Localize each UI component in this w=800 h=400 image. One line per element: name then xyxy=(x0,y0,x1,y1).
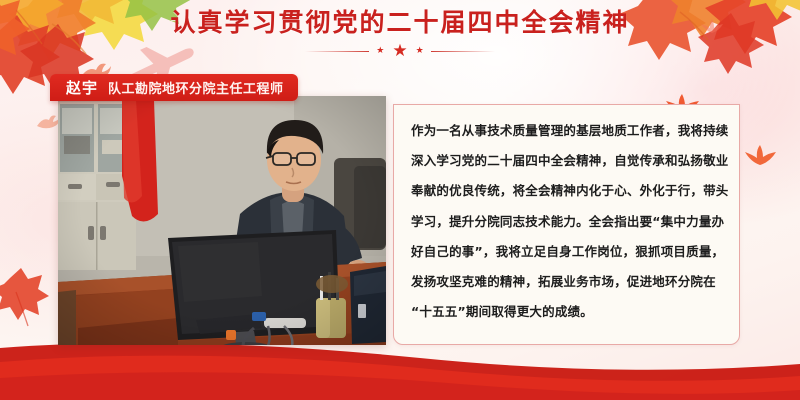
page-title: 认真学习贯彻党的二十届四中全会精神 xyxy=(0,8,800,38)
star-small-left-icon: ★ xyxy=(376,47,384,56)
poster-title-block: 认真学习贯彻党的二十届四中全会精神 ★ ★ ★ xyxy=(0,8,800,60)
quote-line: 作为一名从事技术质量管理的基层地质工作者，我将持续 xyxy=(411,124,722,138)
divider-line-left xyxy=(305,51,369,52)
star-large-icon: ★ xyxy=(392,43,407,60)
person-role: 队工勘院地环分院主任工程师 xyxy=(108,78,284,97)
bird-silhouette-4-icon xyxy=(743,143,777,169)
office-photo-illustration-icon xyxy=(58,96,386,345)
star-small-right-icon: ★ xyxy=(416,47,424,56)
quote-line: “十五五”期间取得更大的成绩。 xyxy=(411,305,722,319)
quote-line: 发扬攻坚克难的精神，拓展业务市场，促进地环分院在 xyxy=(411,275,722,289)
poster-root: 认真学习贯彻党的二十届四中全会精神 ★ ★ ★ 赵宇 队工勘院地环分院主任工程师 xyxy=(0,0,800,400)
maple-leaf-left-lower-icon xyxy=(0,200,56,330)
name-banner: 赵宇 队工勘院地环分院主任工程师 xyxy=(50,74,298,101)
person-photo xyxy=(58,96,386,345)
quote-line: 学习，提升分院同志技术能力。全会指出要“集中力量办 xyxy=(411,215,722,229)
quote-line: 奉献的优良传统，将全会精神内化于心、外化于行，带头 xyxy=(411,184,722,198)
quote-line: 深入学习党的二十届四中全会精神，自觉传承和弘扬敬业 xyxy=(411,154,722,168)
quote-line: 好自己的事”，我将立足自身工作岗位，狠抓项目质量， xyxy=(411,245,722,259)
title-divider: ★ ★ ★ xyxy=(0,43,800,60)
divider-line-right xyxy=(431,51,495,52)
quote-card: 作为一名从事技术质量管理的基层地质工作者，我将持续 深入学习党的二十届四中全会精… xyxy=(393,104,740,345)
person-name: 赵宇 xyxy=(66,77,98,98)
